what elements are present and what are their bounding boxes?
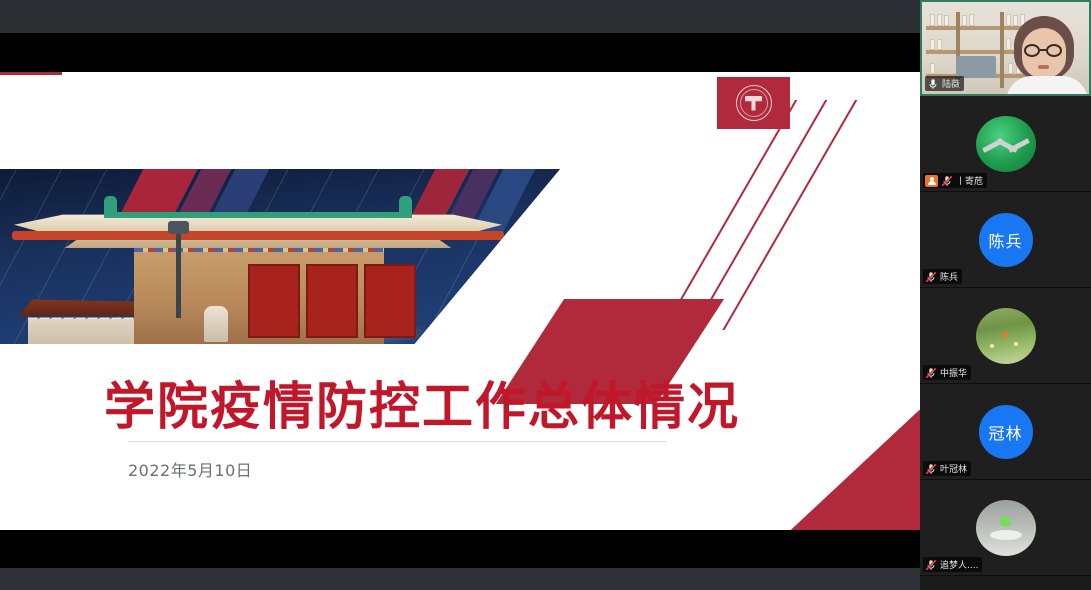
temple-illustration: [48, 202, 468, 344]
university-seal-icon: [736, 85, 772, 121]
host-badge-icon: [925, 175, 938, 187]
diagonal-accent-lines: [680, 100, 920, 330]
shared-screen-region[interactable]: 学院疫情防控工作总体情况 2022年5月10日: [0, 0, 920, 590]
participant-rail[interactable]: 陆薇 丨寄苊: [920, 0, 1091, 590]
participant-name: 丨寄苊: [956, 174, 983, 187]
participant-name-strip: 叶冠林: [923, 461, 971, 476]
microphone-muted-icon: [925, 463, 937, 475]
microphone-muted-icon: [925, 271, 937, 283]
participant-name: 叶冠林: [940, 462, 967, 475]
avatar-initials: 冠林: [988, 420, 1022, 444]
participant-avatar: 冠林: [979, 405, 1033, 459]
participant-tile[interactable]: 冠林 叶冠林: [920, 384, 1091, 480]
participant-tile[interactable]: 陈兵 陈兵: [920, 192, 1091, 288]
avatar-initials: 陈兵: [988, 228, 1022, 252]
participant-avatar: [976, 308, 1036, 364]
slide-top-accent-line: [0, 72, 62, 75]
microphone-on-icon: [927, 78, 939, 90]
participant-name: 追梦人....: [940, 558, 978, 571]
participant-tile[interactable]: 丨寄苊: [920, 96, 1091, 192]
presentation-slide: 学院疫情防控工作总体情况 2022年5月10日: [0, 72, 920, 530]
participant-tile[interactable]: 追梦人....: [920, 480, 1091, 576]
participant-avatar: 陈兵: [979, 213, 1033, 267]
participant-name-strip: 追梦人....: [923, 557, 982, 572]
meeting-window: 学院疫情防控工作总体情况 2022年5月10日: [0, 0, 1091, 590]
participant-name: 陆薇: [942, 77, 960, 90]
slide-date: 2022年5月10日: [128, 457, 252, 481]
participant-tile[interactable]: 陆薇: [920, 0, 1091, 96]
participant-name: 中振华: [940, 366, 967, 379]
participant-tile[interactable]: 中振华: [920, 288, 1091, 384]
participant-avatar: [976, 116, 1036, 172]
corner-decoration: [740, 410, 920, 530]
slide-photo-banner: [0, 169, 560, 344]
slide-title: 学院疫情防控工作总体情况: [104, 365, 740, 439]
participant-name-strip: 陈兵: [923, 269, 962, 284]
participant-name: 陈兵: [940, 270, 958, 283]
university-logo-block: [717, 77, 790, 129]
participant-name-strip: 陆薇: [925, 76, 964, 91]
microphone-muted-icon: [941, 175, 953, 187]
microphone-muted-icon: [925, 367, 937, 379]
title-underline: [128, 441, 666, 442]
participant-name-strip: 丨寄苊: [923, 173, 987, 188]
microphone-muted-icon: [925, 559, 937, 571]
shared-app-bottom-bar: [0, 568, 920, 590]
shared-app-top-bar: [0, 0, 920, 33]
participant-name-strip: 中振华: [923, 365, 971, 380]
participant-avatar: [976, 500, 1036, 556]
